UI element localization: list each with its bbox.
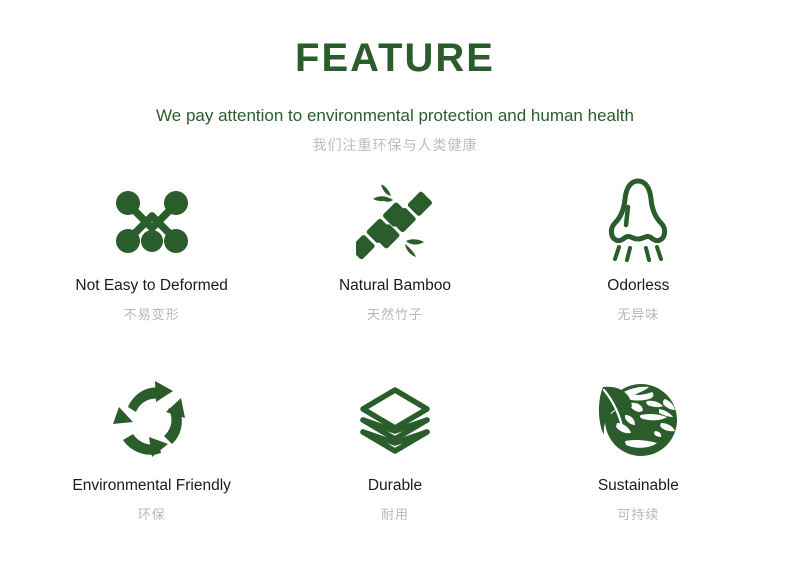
layers-icon (357, 372, 433, 468)
feature-grid: Not Easy to Deformed 不易变形 (0, 176, 790, 568)
feature-label-en: Odorless (607, 276, 669, 295)
feature-item-natural-bamboo: Natural Bamboo 天然竹子 (273, 176, 516, 372)
feature-section: FEATURE We pay attention to environmenta… (0, 0, 790, 576)
feature-label-en: Durable (368, 476, 422, 495)
feature-label-cn: 可持续 (617, 507, 659, 523)
globe-leaf-icon (597, 372, 679, 468)
recycle-icon (111, 372, 193, 468)
feature-label-cn: 环保 (138, 507, 166, 523)
feature-label-en: Natural Bamboo (339, 276, 451, 295)
subtitle-english: We pay attention to environmental protec… (0, 106, 790, 126)
feature-item-odorless: Odorless 无异味 (517, 176, 760, 372)
nose-icon (605, 176, 671, 268)
bamboo-icon (356, 176, 434, 268)
molecule-lattice-icon (114, 176, 190, 268)
feature-item-environmental-friendly: Environmental Friendly 环保 (30, 372, 273, 568)
page-title: FEATURE (0, 36, 790, 80)
feature-label-en: Not Easy to Deformed (75, 276, 227, 295)
feature-item-sustainable: Sustainable 可持续 (517, 372, 760, 568)
feature-item-durable: Durable 耐用 (273, 372, 516, 568)
feature-label-en: Sustainable (598, 476, 679, 495)
feature-label-cn: 耐用 (381, 507, 409, 523)
feature-label-en: Environmental Friendly (72, 476, 231, 495)
feature-label-cn: 无异味 (617, 307, 659, 323)
feature-item-not-easy-to-deformed: Not Easy to Deformed 不易变形 (30, 176, 273, 372)
section-header: FEATURE We pay attention to environmenta… (0, 0, 790, 154)
subtitle-chinese: 我们注重环保与人类健康 (0, 137, 790, 154)
feature-label-cn: 不易变形 (124, 307, 180, 323)
feature-label-cn: 天然竹子 (367, 307, 423, 323)
